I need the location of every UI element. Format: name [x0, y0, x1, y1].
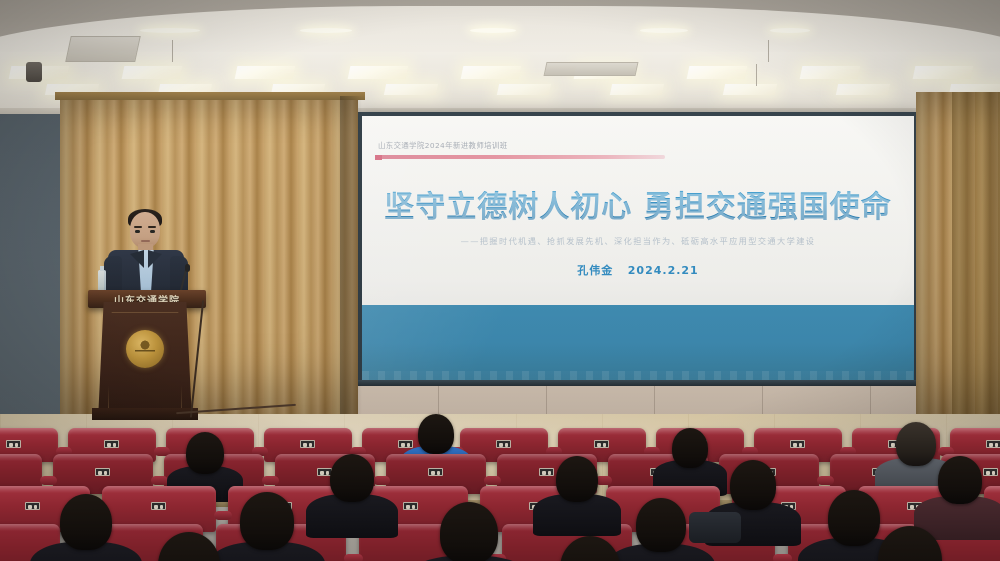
- audience-seating-area: [0, 420, 1000, 561]
- speaker-eye: [135, 230, 140, 233]
- seat-number-plate: [983, 468, 998, 476]
- ceiling-spotlight: [770, 28, 810, 33]
- ceiling-panel-light: [610, 84, 664, 95]
- seat-number-plate: [398, 440, 413, 448]
- seat-number-plate: [95, 468, 110, 476]
- audience-member-head: [896, 422, 936, 466]
- seat-backrest-highlight: [386, 454, 486, 461]
- audience-member-head: [186, 432, 224, 474]
- seat-backrest-highlight: [0, 428, 58, 435]
- university-crest-icon: [126, 330, 164, 368]
- ceiling-panel-light: [235, 66, 296, 79]
- audience-member-head: [636, 498, 686, 552]
- slide-subtitle: ——把握时代机遇、抢抓发展先机、深化担当作为、砥砺高水平应用型交通大学建设: [362, 235, 914, 247]
- audience-member-head: [60, 494, 112, 550]
- seat-armrest: [817, 476, 834, 485]
- seat-armrest: [344, 554, 363, 561]
- auditorium-photo: 山东交通学院2024年新进教师培训班 坚守立德树人初心 勇担交通强国使命 ——把…: [0, 0, 1000, 561]
- ceiling-spotlight: [470, 28, 516, 33]
- ceiling-panel-light: [687, 66, 748, 79]
- seat-armrest: [262, 476, 279, 485]
- seat-backrest-highlight: [460, 428, 548, 435]
- audience-member-head: [330, 454, 374, 502]
- speaker-eye: [150, 230, 155, 233]
- seat-backrest-highlight: [0, 454, 42, 461]
- podium-and-speaker: 山东交通学院: [86, 212, 208, 427]
- audience-member-head: [556, 456, 598, 502]
- ceiling-spotlight: [300, 28, 352, 33]
- seat-armrest: [373, 476, 390, 485]
- seat-backrest-highlight: [754, 428, 842, 435]
- ceiling-panel-light: [836, 84, 890, 95]
- seat-backrest-highlight: [719, 454, 819, 461]
- audience-member-head: [440, 502, 498, 561]
- ceiling-panel-light: [384, 84, 438, 95]
- audience-member-head: [730, 460, 776, 510]
- slide-divider-rule: [375, 155, 665, 159]
- ceiling-panel-light: [800, 66, 861, 79]
- air-vent-icon: [544, 62, 639, 76]
- seat-number-plate: [104, 440, 119, 448]
- seat-number-plate: [790, 440, 805, 448]
- ceiling-panel-light: [122, 66, 183, 79]
- ceiling-spotlight: [640, 28, 688, 33]
- ceiling-hanger: [756, 64, 757, 86]
- seat-backrest-highlight: [606, 486, 720, 493]
- seat-backrest-highlight: [950, 428, 1000, 435]
- ceiling-hanger: [768, 40, 769, 62]
- seat-armrest: [773, 554, 792, 561]
- backpack: [689, 512, 742, 543]
- ceiling-spotlight: [140, 28, 200, 33]
- seat-backrest-highlight: [102, 486, 216, 493]
- ceiling-panel-light: [461, 66, 522, 79]
- seat-number-plate: [496, 440, 511, 448]
- air-vent-icon: [65, 36, 141, 62]
- seat-number-plate: [986, 440, 1000, 448]
- seat-number-plate: [539, 468, 554, 476]
- slide-divider-cap: [375, 155, 382, 160]
- speaker-box-icon: [26, 62, 42, 82]
- microphone-icon: [185, 264, 190, 272]
- podium-base: [92, 408, 198, 420]
- seat-backrest-highlight: [228, 486, 342, 493]
- slide-byline: 孔伟金 2024.2.21: [362, 262, 914, 278]
- stage-curtain-right-outer: [952, 92, 1000, 422]
- slide-title: 坚守立德树人初心 勇担交通强国使命: [362, 182, 914, 226]
- seat-number-plate: [403, 502, 418, 510]
- seat-backrest-highlight: [984, 486, 1000, 493]
- audience-member-head: [672, 428, 708, 468]
- seat-backrest-highlight: [264, 428, 352, 435]
- seat-number-plate: [428, 468, 443, 476]
- projection-screen[interactable]: 山东交通学院2024年新进教师培训班 坚守立德树人初心 勇担交通强国使命 ——把…: [362, 116, 914, 381]
- speaker-eyebrow: [148, 226, 156, 228]
- seat-backrest-highlight: [53, 454, 153, 461]
- slide-footer-band: [362, 305, 914, 381]
- ceiling-panel-light: [497, 84, 551, 95]
- audience-member-head: [240, 492, 294, 550]
- ceiling-panel-light: [348, 66, 409, 79]
- seat-backrest-highlight: [558, 428, 646, 435]
- wall-below-screen-seams: [330, 386, 970, 416]
- slide-header-text: 山东交通学院2024年新进教师培训班: [378, 140, 507, 151]
- ceiling-hanger: [172, 40, 173, 62]
- ceiling-panel-light: [723, 84, 777, 95]
- seat-number-plate: [300, 440, 315, 448]
- seat-armrest: [40, 476, 57, 485]
- seat-backrest-highlight: [0, 486, 90, 493]
- slide-speaker-name: 孔伟金: [577, 264, 613, 277]
- curtain-rail: [55, 92, 365, 100]
- curtain-edge-shadow: [340, 96, 362, 416]
- speaker-mouth: [141, 240, 150, 242]
- seat-armrest: [151, 476, 168, 485]
- seat-backrest-highlight: [68, 428, 156, 435]
- seat-backrest-highlight: [0, 524, 60, 531]
- presentation-slide: 山东交通学院2024年新进教师培训班 坚守立德树人初心 勇担交通强国使命 ——把…: [362, 116, 914, 381]
- slide-date: 2024.2.21: [628, 264, 699, 277]
- seat-number-plate: [594, 440, 609, 448]
- seat-number-plate: [25, 502, 40, 510]
- seat-number-plate: [151, 502, 166, 510]
- speaker-eyebrow: [134, 226, 142, 228]
- ceiling-panel-light: [913, 66, 974, 79]
- seat-armrest: [484, 476, 501, 485]
- audience-member-head: [938, 456, 982, 504]
- seat-number-plate: [6, 440, 21, 448]
- audience-member-head: [828, 490, 880, 546]
- audience-member-head: [418, 414, 454, 454]
- seat-armrest: [214, 511, 232, 520]
